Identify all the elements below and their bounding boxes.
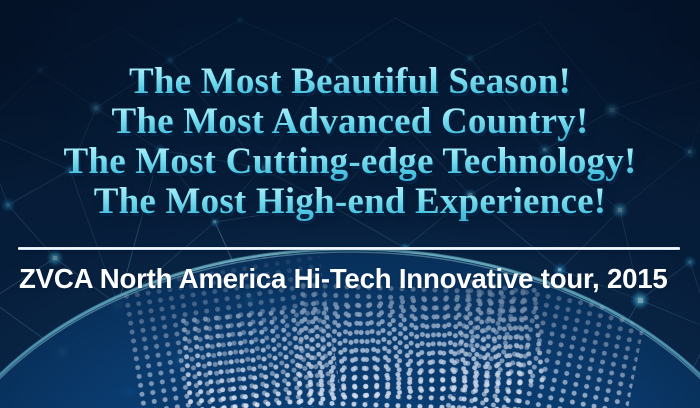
headline-line-3: The Most Cutting-edge Technology!: [0, 142, 700, 182]
promo-banner: The Most Beautiful Season! The Most Adva…: [0, 0, 700, 408]
headline-group: The Most Beautiful Season! The Most Adva…: [0, 62, 700, 222]
banner-content: The Most Beautiful Season! The Most Adva…: [0, 0, 700, 408]
headline-line-4: The Most High-end Experience!: [0, 182, 700, 222]
headline-line-1: The Most Beautiful Season!: [0, 62, 700, 102]
horizontal-rule: [18, 247, 680, 250]
banner-subtitle: ZVCA North America Hi-Tech Innovative to…: [19, 262, 668, 296]
headline-line-2: The Most Advanced Country!: [0, 102, 700, 142]
